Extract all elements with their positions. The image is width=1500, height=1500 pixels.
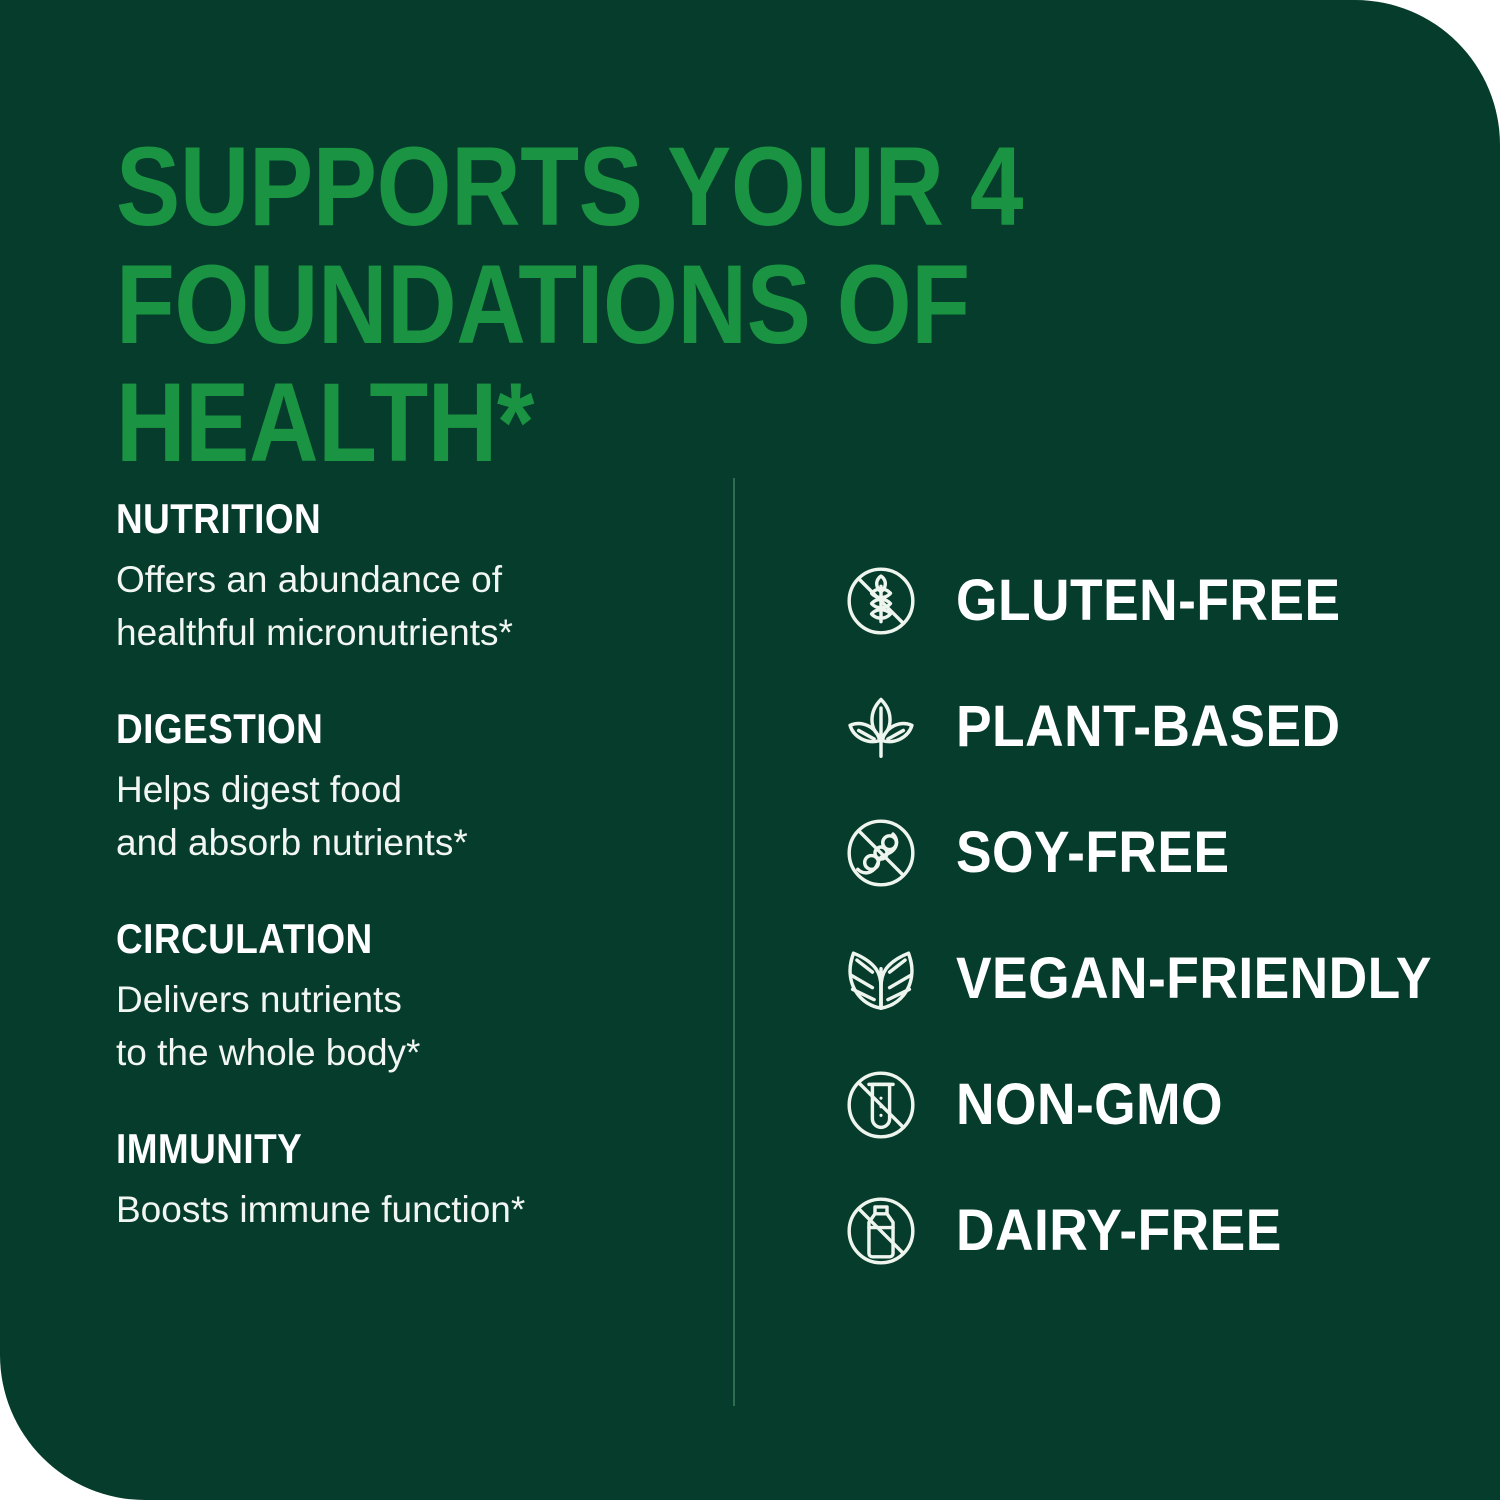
badge-label: PLANT-BASED: [956, 697, 1341, 757]
badge-label: NON-GMO: [956, 1075, 1223, 1135]
badge-vegan-friendly: VEGAN-FRIENDLY: [838, 916, 1438, 1042]
feature-item-nutrition: NUTRITION Offers an abundance of healthf…: [116, 495, 696, 659]
certifications-list: GLUTEN-FREE PLANT-BASED: [838, 538, 1438, 1294]
feature-title: IMMUNITY: [116, 1125, 626, 1173]
badge-label: DAIRY-FREE: [956, 1201, 1282, 1261]
wheat-crossed-out-icon: [838, 558, 924, 644]
page-title: SUPPORTS YOUR 4 FOUNDATIONS OF HEALTH*: [116, 128, 1225, 482]
badge-gluten-free: GLUTEN-FREE: [838, 538, 1438, 664]
feature-item-immunity: IMMUNITY Boosts immune function*: [116, 1125, 696, 1236]
badge-label: SOY-FREE: [956, 823, 1230, 883]
soybean-pod-crossed-out-icon: [838, 810, 924, 896]
feature-item-circulation: CIRCULATION Delivers nutrients to the wh…: [116, 915, 696, 1079]
badge-dairy-free: DAIRY-FREE: [838, 1168, 1438, 1294]
milk-bottle-crossed-out-icon: [838, 1188, 924, 1274]
feature-title: DIGESTION: [116, 705, 626, 753]
two-leaves-icon: [838, 936, 924, 1022]
feature-title: NUTRITION: [116, 495, 626, 543]
test-tube-crossed-out-icon: [838, 1062, 924, 1148]
feature-description: Helps digest food and absorb nutrients*: [116, 763, 696, 869]
feature-description: Boosts immune function*: [116, 1183, 696, 1236]
badge-label: GLUTEN-FREE: [956, 571, 1341, 631]
sprout-leaves-icon: [838, 684, 924, 770]
badge-soy-free: SOY-FREE: [838, 790, 1438, 916]
promo-panel: SUPPORTS YOUR 4 FOUNDATIONS OF HEALTH* N…: [0, 0, 1500, 1500]
badge-non-gmo: NON-GMO: [838, 1042, 1438, 1168]
badge-plant-based: PLANT-BASED: [838, 664, 1438, 790]
feature-description: Delivers nutrients to the whole body*: [116, 973, 696, 1079]
feature-title: CIRCULATION: [116, 915, 626, 963]
feature-item-digestion: DIGESTION Helps digest food and absorb n…: [116, 705, 696, 869]
badge-label: VEGAN-FRIENDLY: [956, 949, 1432, 1009]
column-divider: [733, 478, 735, 1406]
foundations-list: NUTRITION Offers an abundance of healthf…: [116, 495, 696, 1236]
feature-description: Offers an abundance of healthful micronu…: [116, 553, 696, 659]
